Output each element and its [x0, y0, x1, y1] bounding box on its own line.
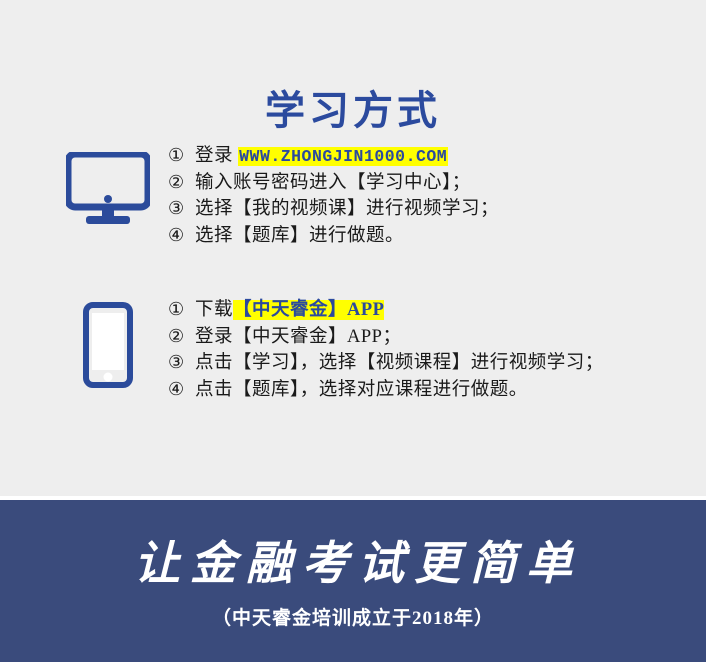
- step-marker: ③: [168, 199, 195, 217]
- smartphone-icon: [83, 302, 133, 388]
- footer-banner: 让金融考试更简单 （中天睿金培训成立于2018年）: [0, 500, 706, 662]
- app-name-highlight[interactable]: 【中天睿金】APP: [233, 300, 384, 320]
- list-item: ③ 选择【我的视频课】进行视频学习；: [168, 199, 499, 219]
- page-title: 学习方式: [265, 89, 441, 133]
- list-item: ② 输入账号密码进入【学习中心】；: [168, 173, 499, 193]
- desktop-steps-list: ① 登录 WWW.ZHONGJIN1000.COM ② 输入账号密码进入【学习中…: [168, 146, 499, 245]
- footer-subtitle: （中天睿金培训成立于2018年）: [0, 591, 706, 630]
- slide-root: 学习方式 ① 登录 WWW.ZHONGJIN1000.COM ② 输入账号密码进…: [0, 0, 706, 662]
- step-marker: ④: [168, 380, 195, 398]
- list-item: ④ 选择【题库】进行做题。: [168, 226, 499, 246]
- page-title-container: 学习方式: [0, 62, 706, 160]
- list-item: ④ 点击【题库】，选择对应课程进行做题。: [168, 380, 604, 400]
- step-text: 登录 WWW.ZHONGJIN1000.COM: [195, 147, 448, 166]
- desktop-monitor-icon: [66, 152, 150, 226]
- section-desktop: ① 登录 WWW.ZHONGJIN1000.COM ② 输入账号密码进入【学习中…: [48, 146, 499, 245]
- list-item: ② 登录【中天睿金】APP；: [168, 327, 604, 347]
- footer-slogan: 让金融考试更简单: [0, 500, 706, 591]
- mobile-steps-list: ① 下载【中天睿金】APP ② 登录【中天睿金】APP； ③ 点击【学习】，选择…: [168, 300, 604, 399]
- step-marker: ③: [168, 353, 195, 371]
- step-marker: ②: [168, 327, 195, 345]
- step-text: 选择【我的视频课】进行视频学习；: [195, 200, 499, 219]
- step-text: 输入账号密码进入【学习中心】；: [195, 174, 471, 193]
- mobile-icon-cell: [48, 300, 168, 388]
- step-marker: ①: [168, 146, 195, 164]
- step-marker: ②: [168, 173, 195, 191]
- step-text: 下载【中天睿金】APP: [195, 301, 384, 320]
- list-item: ① 下载【中天睿金】APP: [168, 300, 604, 320]
- step-text: 点击【题库】，选择对应课程进行做题。: [195, 381, 528, 400]
- step-text: 选择【题库】进行做题。: [195, 227, 404, 246]
- list-item: ① 登录 WWW.ZHONGJIN1000.COM: [168, 146, 499, 166]
- step-marker: ④: [168, 226, 195, 244]
- step-text: 登录【中天睿金】APP；: [195, 328, 401, 347]
- section-mobile: ① 下载【中天睿金】APP ② 登录【中天睿金】APP； ③ 点击【学习】，选择…: [48, 300, 604, 399]
- step-text: 点击【学习】，选择【视频课程】进行视频学习；: [195, 354, 604, 373]
- step-marker: ①: [168, 300, 195, 318]
- website-url-highlight[interactable]: WWW.ZHONGJIN1000.COM: [238, 147, 448, 166]
- step-text-prefix: 登录: [195, 146, 238, 166]
- step-text-prefix: 下载: [195, 300, 233, 320]
- list-item: ③ 点击【学习】，选择【视频课程】进行视频学习；: [168, 353, 604, 373]
- desktop-icon-cell: [48, 146, 168, 226]
